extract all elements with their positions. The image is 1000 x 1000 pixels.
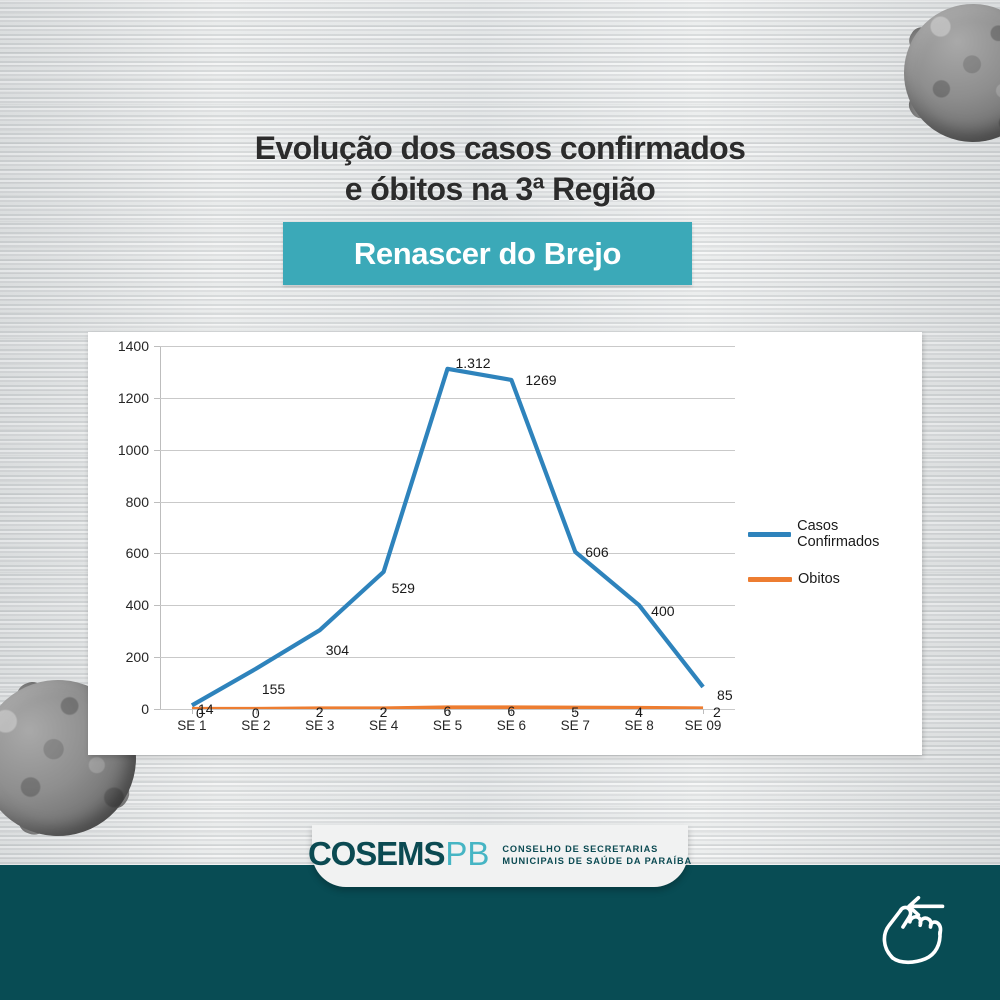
- chart-plot-area: 0200400600800100012001400SE 1SE 2SE 3SE …: [160, 346, 735, 709]
- x-axis-tick: [192, 709, 193, 714]
- x-axis-label: SE 8: [625, 718, 654, 733]
- region-banner-label: Renascer do Brejo: [354, 236, 621, 272]
- data-label: 2: [316, 704, 324, 720]
- x-axis-label: SE 5: [433, 718, 462, 733]
- title-line-2: e óbitos na 3ª Região: [0, 169, 1000, 210]
- data-label: 0: [252, 705, 260, 721]
- data-label: 4: [635, 704, 643, 720]
- y-axis-label: 800: [126, 494, 149, 510]
- legend-item[interactable]: Casos Confirmados: [748, 518, 922, 550]
- y-axis-label: 0: [141, 701, 149, 717]
- data-label: 5: [571, 704, 579, 720]
- y-axis-label: 1400: [118, 338, 149, 354]
- data-label: 400: [651, 603, 674, 619]
- chart-legend: Casos ConfirmadosObitos: [748, 518, 922, 608]
- logo-tagline-line-1: CONSELHO DE SECRETARIAS: [502, 844, 692, 856]
- data-label: 304: [326, 642, 349, 658]
- x-axis-label: SE 6: [497, 718, 526, 733]
- logo-tab: COSEMS PB CONSELHO DE SECRETARIAS MUNICI…: [312, 825, 688, 887]
- logo-pb-text: PB: [445, 835, 489, 873]
- data-label: 2: [380, 704, 388, 720]
- data-label: 529: [392, 580, 415, 596]
- legend-swatch: [748, 577, 792, 582]
- legend-item[interactable]: Obitos: [748, 571, 922, 587]
- y-axis-label: 1200: [118, 390, 149, 406]
- x-axis-tick: [703, 709, 704, 714]
- logo-cosems-text: COSEMS: [308, 835, 444, 873]
- page-title: Evolução dos casos confirmados e óbitos …: [0, 128, 1000, 210]
- y-axis-label: 1000: [118, 442, 149, 458]
- y-axis-label: 400: [126, 597, 149, 613]
- logo-tagline: CONSELHO DE SECRETARIAS MUNICIPAIS DE SA…: [502, 841, 692, 867]
- chart-panel: 0200400600800100012001400SE 1SE 2SE 3SE …: [88, 332, 922, 755]
- data-label: 155: [262, 681, 285, 697]
- x-axis-label: SE 7: [561, 718, 590, 733]
- logo-tagline-line-2: MUNICIPAIS DE SAÚDE DA PARAÍBA: [502, 856, 692, 868]
- y-axis-label: 200: [126, 649, 149, 665]
- data-label: 606: [585, 544, 608, 560]
- legend-label: Obitos: [798, 571, 840, 587]
- y-axis-tick: [154, 709, 160, 710]
- data-label: 6: [444, 703, 452, 719]
- data-label: 85: [717, 687, 733, 703]
- data-label: 2: [713, 704, 721, 720]
- swipe-left-hand-icon[interactable]: [872, 884, 958, 970]
- title-line-1: Evolução dos casos confirmados: [0, 128, 1000, 169]
- legend-label: Casos Confirmados: [797, 518, 922, 550]
- chart-series-lines: [160, 346, 735, 709]
- data-label: 1.312: [456, 355, 491, 371]
- region-banner: Renascer do Brejo: [283, 222, 692, 285]
- series-line-casos-confirmados: [192, 369, 703, 706]
- data-label: 1269: [525, 372, 556, 388]
- data-label: 6: [507, 703, 515, 719]
- data-label: 0: [196, 705, 204, 721]
- legend-swatch: [748, 532, 791, 537]
- y-axis-label: 600: [126, 545, 149, 561]
